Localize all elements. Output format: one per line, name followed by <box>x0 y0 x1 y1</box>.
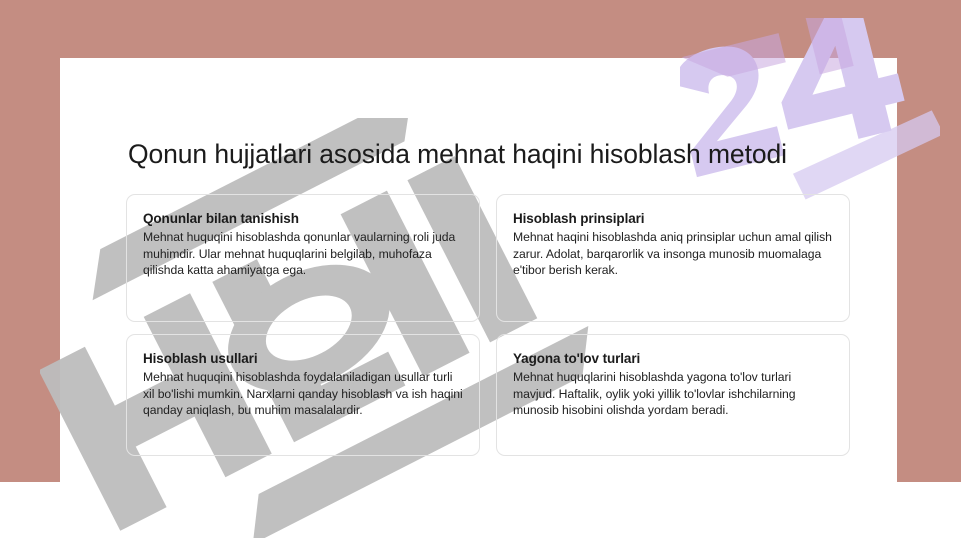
card-yagona-tolov-turlari[interactable]: Yagona to'lov turlari Mehnat huquqlarini… <box>496 334 850 456</box>
card-heading: Hisoblash usullari <box>143 351 463 366</box>
page-title: Qonun hujjatlari asosida mehnat haqini h… <box>128 138 788 170</box>
card-heading: Hisoblash prinsiplari <box>513 211 833 226</box>
card-body: Mehnat huquqlarini hisoblashda yagona to… <box>513 369 833 419</box>
presentation-slide: Qonun hujjatlari asosida mehnat haqini h… <box>60 58 897 483</box>
card-heading: Yagona to'lov turlari <box>513 351 833 366</box>
card-qonunlar-bilan-tanishish[interactable]: Qonunlar bilan tanishish Mehnat huquqini… <box>126 194 480 322</box>
card-grid: Qonunlar bilan tanishish Mehnat huquqini… <box>126 194 850 456</box>
card-hisoblash-usullari[interactable]: Hisoblash usullari Mehnat huquqini hisob… <box>126 334 480 456</box>
card-body: Mehnat haqini hisoblashda aniq prinsipla… <box>513 229 833 279</box>
card-hisoblash-prinsiplari[interactable]: Hisoblash prinsiplari Mehnat haqini hiso… <box>496 194 850 322</box>
card-body: Mehnat huquqini hisoblashda foydalanilad… <box>143 369 463 419</box>
card-body: Mehnat huquqini hisoblashda qonunlar vau… <box>143 229 463 279</box>
card-heading: Qonunlar bilan tanishish <box>143 211 463 226</box>
